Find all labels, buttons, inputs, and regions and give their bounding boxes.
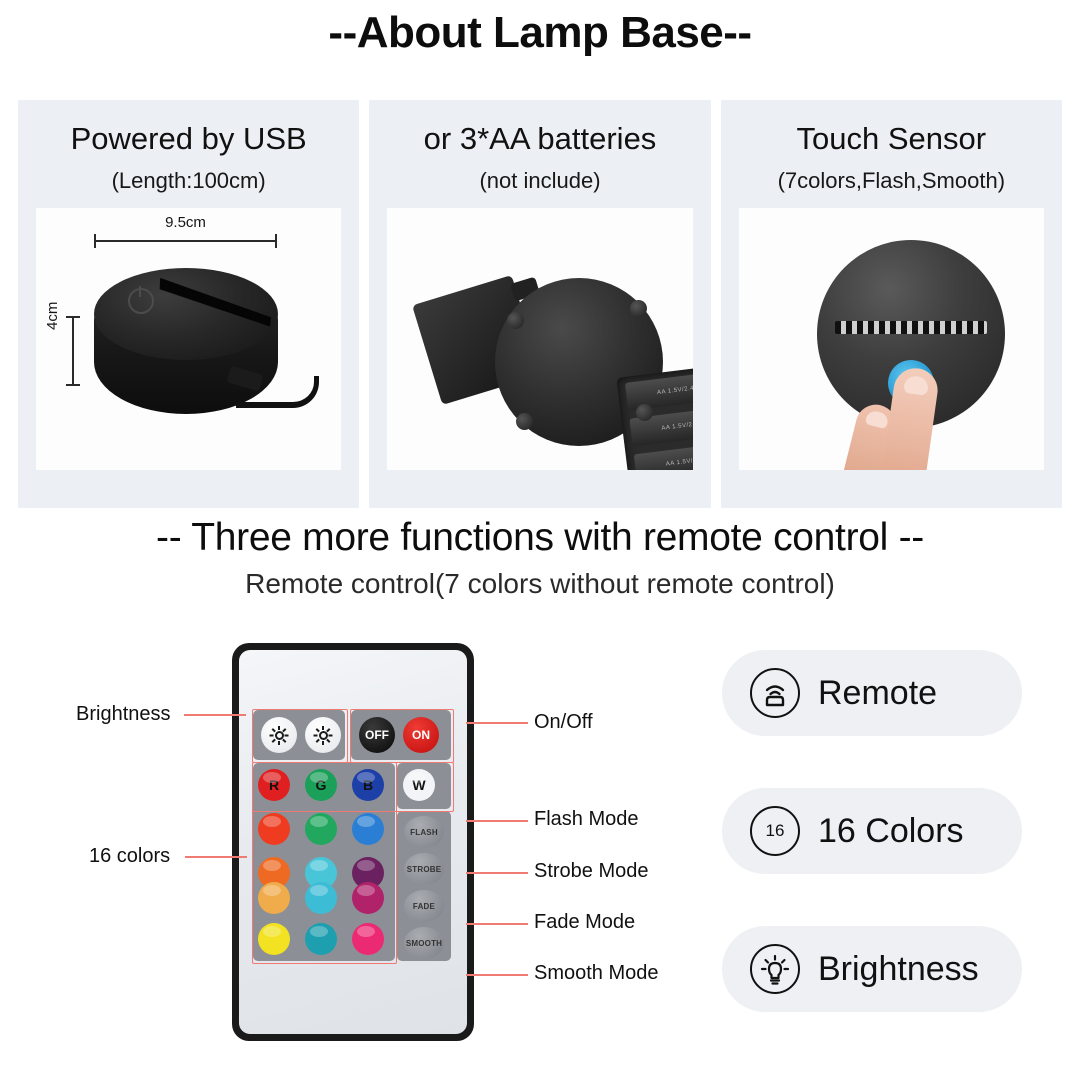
brightness-group-highlight (252, 709, 348, 763)
led-strip (835, 321, 987, 334)
power-symbol-icon (128, 288, 154, 314)
panel-powered-by-usb: Powered by USB (Length:100cm) 9.5cm 4cm (18, 100, 359, 508)
feature-card-brightness[interactable]: Brightness (722, 926, 1022, 1012)
flash-mode-button[interactable]: FLASH (404, 816, 444, 848)
panel-aa-batteries: or 3*AA batteries (not include) AA 1.5V/… (369, 100, 710, 508)
battery-slot: AA 1.5V/2.4AH (625, 370, 692, 411)
callout-label-strobe: Strobe Mode (534, 860, 649, 883)
height-dimension-line (72, 316, 74, 386)
callout-label-onoff: On/Off (534, 711, 593, 734)
panel-touch-sensor: Touch Sensor (7colors,Flash,Smooth) (721, 100, 1062, 508)
callout-line-flash (466, 820, 528, 822)
feature-card-label: Remote (818, 674, 937, 713)
info-panels: Powered by USB (Length:100cm) 9.5cm 4cm … (18, 100, 1062, 508)
callout-label-16-colors: 16 colors (89, 845, 170, 868)
callout-label-flash: Flash Mode (534, 808, 639, 831)
sixteen-circle-icon: 16 (750, 806, 800, 856)
lamp-base-usb-photo: 9.5cm 4cm (36, 208, 341, 470)
callout-line-onoff (466, 722, 528, 724)
callout-label-smooth: Smooth Mode (534, 962, 659, 985)
smooth-mode-button[interactable]: SMOOTH (404, 927, 444, 959)
feature-cards: Remote 16 16 Colors Brightness (722, 650, 1022, 1064)
callout-line-16-colors (185, 856, 247, 858)
sixteen-badge-text: 16 (750, 806, 800, 856)
feature-card-remote[interactable]: Remote (722, 650, 1022, 736)
battery-compartment-photo: AA 1.5V/2.4AH AA 1.5V/2.4AH AA 1.5V/2.4A… (387, 208, 692, 470)
touch-sensor-photo (739, 208, 1044, 470)
fade-mode-button[interactable]: FADE (404, 890, 444, 922)
section-title: -- Three more functions with remote cont… (0, 516, 1080, 560)
page-title: --About Lamp Base-- (0, 8, 1080, 58)
width-dimension-line (94, 240, 277, 242)
color-grid-highlight (252, 762, 397, 964)
bulb-brightness-icon (750, 944, 800, 994)
section-subtitle: Remote control(7 colors without remote c… (0, 568, 1080, 600)
strobe-mode-button[interactable]: STROBE (404, 853, 444, 885)
panel-subtitle: (not include) (479, 168, 600, 194)
remote-face: OFF ON R G B W FLASH STROBE FADE SMOOTH (239, 650, 467, 1034)
feature-card-label: 16 Colors (818, 812, 964, 851)
height-dimension-label: 4cm (44, 302, 61, 330)
feature-card-16-colors[interactable]: 16 16 Colors (722, 788, 1022, 874)
callout-line-fade (466, 923, 528, 925)
panel-title: Touch Sensor (797, 122, 987, 156)
panel-subtitle: (Length:100cm) (112, 168, 266, 194)
panel-title: Powered by USB (71, 122, 307, 156)
width-dimension-label: 9.5cm (94, 214, 277, 231)
callout-line-strobe (466, 872, 528, 874)
panel-subtitle: (7colors,Flash,Smooth) (778, 168, 1005, 194)
power-group-highlight (350, 709, 454, 763)
remote-signal-icon (750, 668, 800, 718)
remote-control[interactable]: OFF ON R G B W FLASH STROBE FADE SMOOTH (232, 643, 474, 1041)
panel-title: or 3*AA batteries (424, 122, 657, 156)
callout-line-smooth (466, 974, 528, 976)
feature-card-label: Brightness (818, 950, 979, 989)
battery-slot: AA 1.5V/2.4AH (634, 441, 693, 470)
battery-well: AA 1.5V/2.4AH AA 1.5V/2.4AH AA 1.5V/2.4A… (617, 363, 693, 470)
callout-label-brightness: Brightness (76, 703, 171, 726)
callout-line-brightness (184, 714, 246, 716)
callout-label-fade: Fade Mode (534, 911, 635, 934)
